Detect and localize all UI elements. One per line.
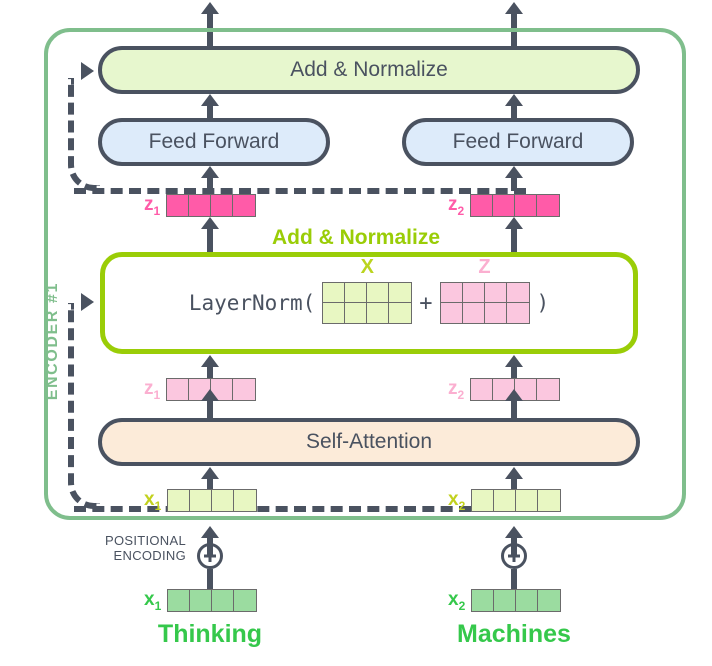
z-output-vector-group-2: z2 xyxy=(448,194,560,217)
x-positional-vector-group-2: x2 xyxy=(448,489,561,512)
x-embedding-vector-group-1: x1 xyxy=(144,589,257,612)
matrix-x-wrapper: X xyxy=(322,282,412,324)
x-embedding-vector-1 xyxy=(167,589,257,612)
positional-encoding-label-line2: ENCODING xyxy=(80,548,186,563)
residual-upper-arrowhead xyxy=(81,62,94,80)
layernorm-box[interactable]: LayerNorm( X + Z ) xyxy=(100,252,638,354)
x-embedding-vector-group-2: x2 xyxy=(448,589,561,612)
x-embedding-label-1: x1 xyxy=(144,590,161,612)
add-normalize-top-label: Add & Normalize xyxy=(290,58,448,82)
emb-to-pe-line-left xyxy=(207,569,213,589)
feed-forward-right-box[interactable]: Feed Forward xyxy=(402,118,634,166)
ff-to-addnorm-arrow-right xyxy=(511,105,517,119)
layernorm-to-z-arrow-right xyxy=(511,228,517,252)
encoder-label: ENCODER #1 xyxy=(44,282,62,400)
layernorm-close-paren: ) xyxy=(537,293,550,314)
residual-upper-corner xyxy=(68,78,100,191)
matrix-x-caption: X xyxy=(322,256,412,279)
diagram-canvas: ENCODER #1 Add & Normalize Feed Forward … xyxy=(0,0,712,666)
residual-lower-arrowhead xyxy=(81,293,94,311)
self-attention-label: Self-Attention xyxy=(306,430,432,454)
z-output-label-1: z1 xyxy=(144,195,160,217)
positional-encoding-plus-icon xyxy=(197,543,223,569)
selfatt-to-zatt-arrow-right xyxy=(511,400,517,418)
matrix-x xyxy=(322,282,412,324)
positional-encoding-label-line1: POSITIONAL xyxy=(80,533,186,548)
z-attention-label-1: z1 xyxy=(144,379,160,401)
matrix-z-caption: Z xyxy=(440,256,530,279)
x-embedding-vector-2 xyxy=(471,589,561,612)
matrix-z-wrapper: Z xyxy=(440,282,530,324)
selfatt-to-zatt-arrow-left xyxy=(207,400,213,418)
feed-forward-left-label: Feed Forward xyxy=(149,130,280,154)
feed-forward-left-box[interactable]: Feed Forward xyxy=(98,118,330,166)
x-positional-vector-2 xyxy=(471,489,561,512)
layernorm-plus-sign: + xyxy=(419,291,432,316)
positional-encoding-plus-icon-2 xyxy=(501,543,527,569)
ff-to-addnorm-arrow-left xyxy=(207,105,213,119)
feed-forward-right-label: Feed Forward xyxy=(453,130,584,154)
x-positional-label-2: x2 xyxy=(448,490,465,512)
matrix-z xyxy=(440,282,530,324)
z-output-vector-group-1: z1 xyxy=(144,194,256,217)
input-word-1: Thinking xyxy=(110,620,310,649)
z-attention-label-2: z2 xyxy=(448,379,464,401)
z-output-label-2: z2 xyxy=(448,195,464,217)
x-positional-label-1: x1 xyxy=(144,490,161,512)
emb-to-pe-line-right xyxy=(511,569,517,589)
positional-encoding-label: POSITIONAL ENCODING xyxy=(80,533,186,563)
input-word-2: Machines xyxy=(414,620,614,649)
add-normalize-top-box[interactable]: Add & Normalize xyxy=(98,46,640,94)
x-positional-vector-group-1: x1 xyxy=(144,489,257,512)
x-positional-vector-1 xyxy=(167,489,257,512)
layernorm-to-z-arrow-left xyxy=(207,228,213,252)
z-output-vector-1 xyxy=(166,194,256,217)
residual-lower-corner xyxy=(68,303,100,509)
self-attention-box[interactable]: Self-Attention xyxy=(98,418,640,466)
layernorm-open-paren: LayerNorm( xyxy=(189,293,315,314)
x-embedding-label-2: x2 xyxy=(448,590,465,612)
z-output-vector-2 xyxy=(470,194,560,217)
